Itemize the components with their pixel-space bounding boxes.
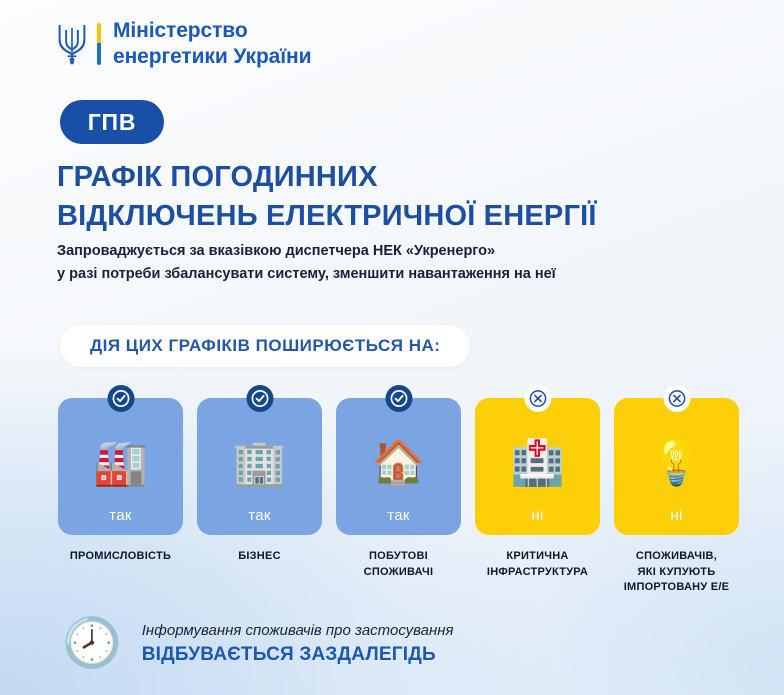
- ukraine-trident-icon: [57, 22, 87, 66]
- footer-line-2: ВІДБУВАЄТЬСЯ ЗАЗДАЛЕГІДЬ: [142, 642, 454, 668]
- card-answer: так: [248, 507, 271, 524]
- card-caption: ПОБУТОВІ СПОЖИВАЧІ: [364, 549, 434, 580]
- card-body: 🏠 так: [336, 398, 461, 535]
- card-imported-electricity: 💡 ні СПОЖИВАЧІВ, ЯКІ КУПУЮТЬ ІМПОРТОВАНУ…: [614, 398, 739, 596]
- card-body: 🏭 так: [58, 398, 183, 535]
- card-caption: ПРОМИСЛОВІСТЬ: [70, 549, 171, 565]
- factory-icon: 🏭: [93, 441, 148, 485]
- x-circle-icon: [663, 385, 690, 412]
- card-body: 💡 ні: [614, 398, 739, 535]
- x-circle-icon: [524, 385, 551, 412]
- card-industry: 🏭 так ПРОМИСЛОВІСТЬ: [58, 398, 183, 596]
- infographic-poster: Міністерство енергетики України ГПВ ГРАФ…: [0, 0, 784, 695]
- card-body: 🏢 так: [197, 398, 322, 535]
- house-icon: 🏠: [371, 441, 426, 485]
- card-answer: ні: [670, 507, 682, 524]
- office-building-icon: 🏢: [232, 441, 287, 485]
- ministry-logo: Міністерство енергетики України: [57, 18, 311, 69]
- footer-note: 🕗 Інформування споживачів про застосуван…: [62, 620, 454, 668]
- footer-line-1: Інформування споживачів про застосування: [142, 620, 454, 642]
- card-caption: КРИТИЧНА ІНФРАСТРУКТУРА: [487, 549, 588, 580]
- card-caption: СПОЖИВАЧІВ, ЯКІ КУПУЮТЬ ІМПОРТОВАНУ Е/Е: [624, 549, 730, 596]
- ministry-name: Міністерство енергетики України: [113, 18, 311, 69]
- page-title: ГРАФІК ПОГОДИННИХ ВІДКЛЮЧЕНЬ ЕЛЕКТРИЧНОЇ…: [57, 158, 757, 235]
- page-subtitle: Запроваджується за вказівкою диспетчера …: [57, 240, 747, 287]
- card-critical-infrastructure: 🏥 ні КРИТИЧНА ІНФРАСТРУКТУРА: [475, 398, 600, 596]
- card-household: 🏠 так ПОБУТОВІ СПОЖИВАЧІ: [336, 398, 461, 596]
- check-circle-icon: [246, 385, 273, 412]
- gpv-badge-pill: ГПВ: [60, 100, 164, 144]
- card-business: 🏢 так БІЗНЕС: [197, 398, 322, 596]
- check-circle-icon: [385, 385, 412, 412]
- section-banner: ДІЯ ЦИХ ГРАФІКІВ ПОШИРЮЄТЬСЯ НА:: [60, 325, 470, 367]
- light-bulb-icon: 💡: [649, 441, 704, 485]
- footer-text: Інформування споживачів про застосування…: [142, 620, 454, 667]
- card-body: 🏥 ні: [475, 398, 600, 535]
- card-answer: так: [109, 507, 132, 524]
- logo-divider: [97, 23, 101, 65]
- check-circle-icon: [107, 385, 134, 412]
- hospital-icon: 🏥: [510, 441, 565, 485]
- card-answer: ні: [531, 507, 543, 524]
- clock-icon: 🕗: [62, 620, 122, 668]
- category-cards: 🏭 так ПРОМИСЛОВІСТЬ 🏢 так БІЗНЕС: [58, 398, 730, 596]
- card-answer: так: [387, 507, 410, 524]
- card-caption: БІЗНЕС: [238, 549, 281, 565]
